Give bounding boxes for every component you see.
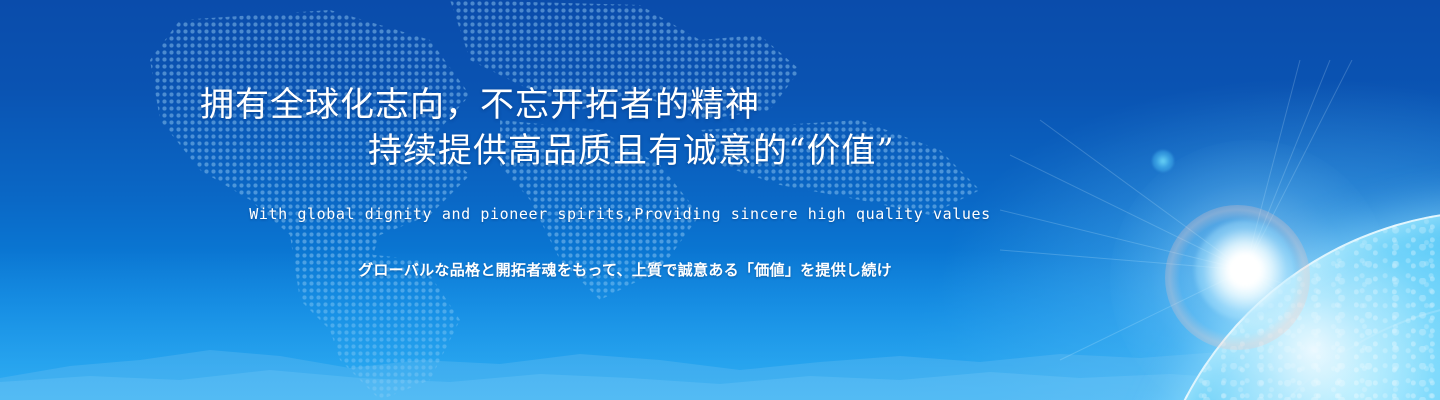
headline-line-1: 拥有全球化志向，不忘开拓者的精神	[0, 82, 1030, 128]
subtitle-english: With global dignity and pioneer spirits,…	[0, 205, 1240, 223]
lens-flare-orb-icon	[1152, 150, 1174, 172]
hero-banner: 拥有全球化志向，不忘开拓者的精神 持续提供高品质且有诚意的“价值” With g…	[0, 0, 1440, 400]
page-title: 拥有全球化志向，不忘开拓者的精神 持续提供高品质且有诚意的“价值”	[0, 82, 1030, 174]
headline-line-2: 持续提供高品质且有诚意的“价值”	[0, 128, 1030, 174]
subtitle-japanese: グローバルな品格と開拓者魂をもって、上質で誠意ある「価値」を提供し続け	[0, 259, 1250, 280]
